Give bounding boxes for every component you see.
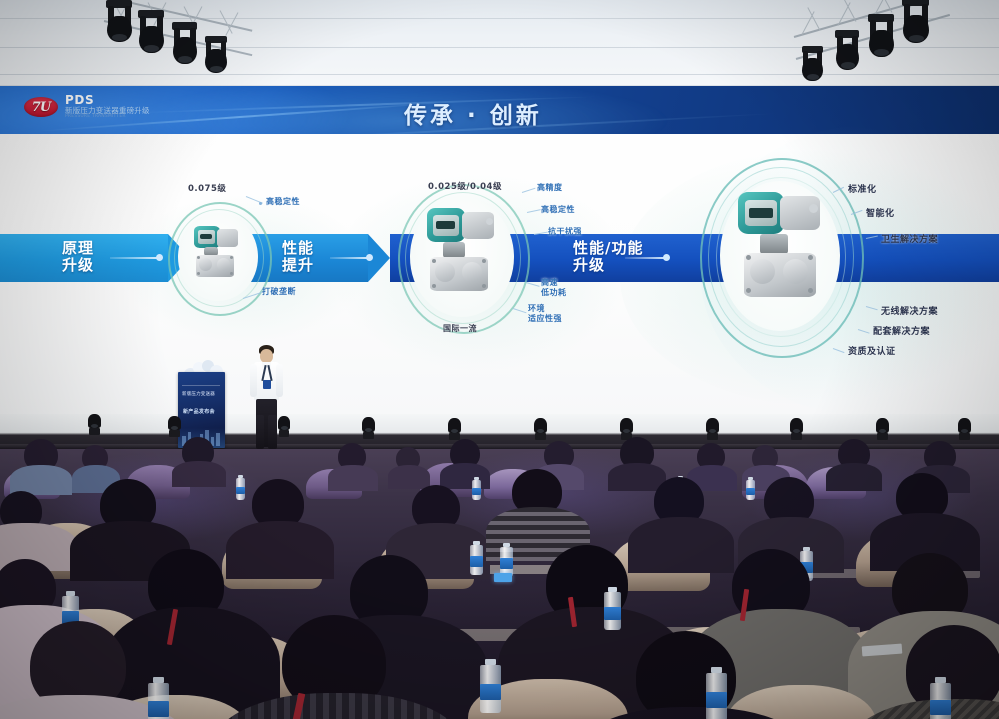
stage-1-grade: 0.075级 bbox=[188, 182, 226, 194]
stage-3-tag-5: 资质及认证 bbox=[848, 344, 896, 357]
stage-2-tag-4-line2: 适应性强 bbox=[528, 314, 562, 324]
stage-2-node bbox=[398, 184, 526, 330]
stage-2-label-line1: 性能 bbox=[282, 240, 314, 257]
rollup-banner-line2: 新产品发布会 bbox=[183, 408, 215, 415]
conference-photo-scene: 7U PDS 新版压力变送器重磅升级 PRESSURE TRANSMITTER … bbox=[0, 0, 999, 719]
stage-1-label: 原理 升级 bbox=[62, 240, 94, 274]
slide-title: 传承 · 创新 bbox=[404, 96, 542, 130]
stage-3-tag-0: 标准化 bbox=[848, 182, 877, 195]
stage-3-label-line2: 升级 bbox=[573, 257, 643, 274]
stage-2-tag-4: 环境 适应性强 bbox=[528, 304, 562, 324]
stage-2-tag-2: 抗干扰强 bbox=[548, 226, 582, 237]
stage-2-tag-3: 高速 低功耗 bbox=[541, 278, 567, 298]
stage-3-tag-3: 无线解决方案 bbox=[881, 304, 938, 317]
rollup-banner-line1: 新版压力变送器 bbox=[182, 392, 215, 398]
pds-oval-logo-icon: 7U bbox=[24, 97, 58, 117]
projection-screen: 7U PDS 新版压力变送器重磅升级 PRESSURE TRANSMITTER … bbox=[0, 86, 999, 416]
stage-2-tag-3-line1: 高速 bbox=[541, 278, 567, 288]
stage-1-label-line2: 升级 bbox=[62, 257, 94, 274]
stage-3-label: 性能/功能 升级 bbox=[573, 240, 643, 274]
stage-3-tag-4: 配套解决方案 bbox=[873, 324, 930, 337]
stage-2-tag-4-line1: 环境 bbox=[528, 304, 562, 314]
stage-2-tag-1: 高稳定性 bbox=[541, 204, 575, 215]
brand-subtitle-en: PRESSURE TRANSMITTER bbox=[65, 115, 150, 120]
pressure-transmitter-icon bbox=[424, 206, 500, 306]
pressure-transmitter-icon bbox=[736, 188, 828, 316]
stage-1-label-line1: 原理 bbox=[62, 240, 94, 257]
stage-3-node bbox=[700, 158, 860, 354]
stage-2-caption: 国际一流 bbox=[443, 323, 477, 334]
stage-2-label-line2: 提升 bbox=[282, 257, 314, 274]
pressure-transmitter-icon bbox=[192, 224, 246, 286]
truss-right bbox=[790, 0, 999, 52]
smartphone bbox=[494, 573, 512, 582]
slide-header: 7U PDS 新版压力变送器重磅升级 PRESSURE TRANSMITTER … bbox=[0, 86, 999, 134]
stage-3-tag-2: 卫生解决方案 bbox=[881, 232, 938, 245]
brand-name: PDS bbox=[65, 94, 150, 107]
stage-1-tag-1: 打破垄断 bbox=[262, 286, 296, 297]
stage-2-grade: 0.025级/0.04级 bbox=[428, 180, 502, 192]
stage-3-label-line1: 性能/功能 bbox=[573, 240, 643, 257]
stage-2-label: 性能 提升 bbox=[282, 240, 314, 274]
stage-2-tag-0: 高精度 bbox=[537, 182, 563, 193]
stage-2-tag-3-line2: 低功耗 bbox=[541, 288, 567, 298]
stage-1-tag-0: 高稳定性 bbox=[266, 196, 300, 207]
brand-logo: 7U PDS 新版压力变送器重磅升级 PRESSURE TRANSMITTER bbox=[24, 94, 150, 120]
stage-3-tag-1: 智能化 bbox=[866, 206, 895, 219]
audience-area bbox=[0, 449, 999, 719]
